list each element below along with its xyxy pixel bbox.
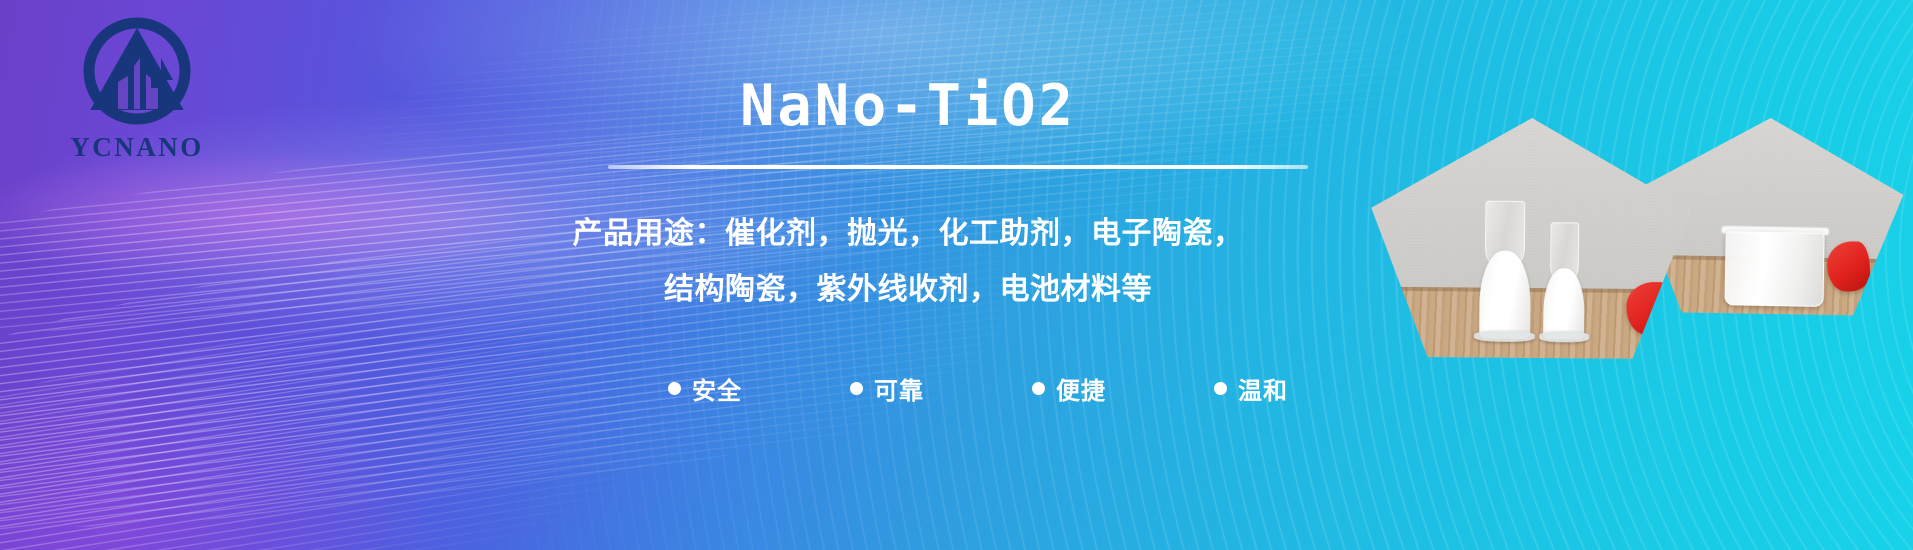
feature-label: 温和 (1238, 371, 1288, 406)
brand-wordmark: YCNANO (42, 134, 232, 161)
red-object-decoration (1626, 282, 1674, 335)
usage-line-2: 结构陶瓷，紫外线收剂，电池材料等 (486, 262, 1330, 318)
vase-short (1543, 207, 1586, 339)
white-vases-product-photo (1370, 117, 1692, 360)
beaker-glass (1725, 231, 1825, 307)
feature-item-mild: 温和 (1214, 371, 1288, 406)
feature-item-reliable: 可靠 (850, 371, 924, 406)
page-title: NaNo-TiO2 (478, 78, 1338, 135)
usage-line-1: 产品用途：催化剂，抛光，化工助剂，电子陶瓷， (486, 206, 1330, 262)
feature-label: 便捷 (1056, 371, 1106, 406)
product-banner: YCNANO NaNo-TiO2 产品用途：催化剂，抛光，化工助剂，电子陶瓷， … (0, 0, 1913, 550)
feature-label: 可靠 (874, 371, 924, 406)
product-usage-text: 产品用途：催化剂，抛光，化工助剂，电子陶瓷， 结构陶瓷，紫外线收剂，电池材料等 (486, 206, 1330, 318)
feature-item-safe: 安全 (668, 371, 742, 406)
brand-logo[interactable]: YCNANO (42, 14, 232, 161)
feature-item-convenient: 便捷 (1032, 371, 1106, 406)
feature-list: 安全 可靠 便捷 温和 (668, 371, 1288, 406)
red-object-decoration (1827, 241, 1871, 293)
title-divider (608, 165, 1308, 169)
dot-bullet-icon (1214, 382, 1227, 395)
banner-content: NaNo-TiO2 产品用途：催化剂，抛光，化工助剂，电子陶瓷， 结构陶瓷，紫外… (478, 0, 1338, 550)
dot-bullet-icon (850, 382, 863, 395)
ycnano-triangle-circle-icon (78, 14, 196, 132)
vase-tall (1479, 182, 1532, 338)
dot-bullet-icon (1032, 382, 1045, 395)
feature-label: 安全 (692, 371, 742, 406)
dot-bullet-icon (668, 382, 681, 395)
